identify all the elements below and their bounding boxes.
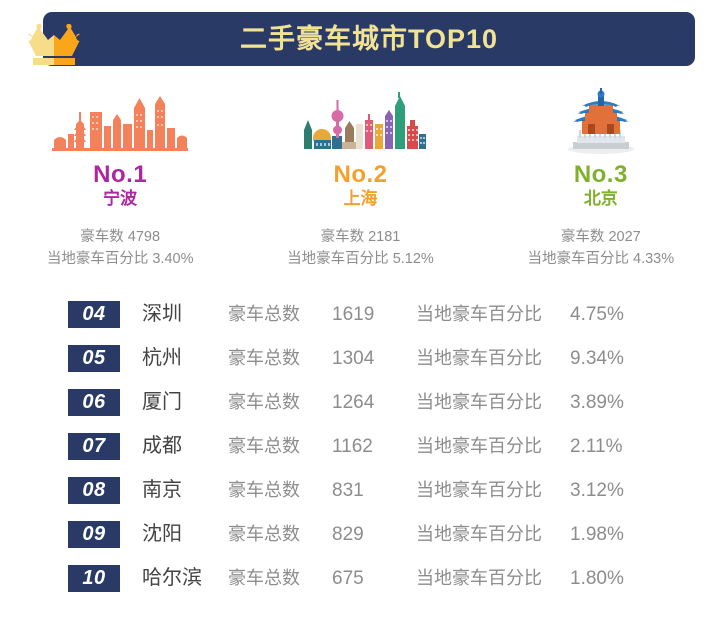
row-pct-value: 3.89%	[570, 393, 624, 412]
row-count-label: 豪车总数	[228, 393, 320, 411]
podium-rank-label: No.1	[93, 162, 147, 187]
row-city-name: 厦门	[142, 392, 228, 412]
row-city-name: 沈阳	[142, 524, 228, 544]
row-count-value: 831	[332, 481, 416, 500]
row-pct-value: 3.12%	[570, 481, 624, 500]
temple-of-heaven-icon	[551, 84, 651, 156]
podium-count-label: 豪车数	[561, 229, 605, 245]
podium-stats: 豪车数 2181 当地豪车百分比 5.12%	[287, 226, 434, 271]
row-pct-value: 2.11%	[570, 437, 622, 456]
row-pct-label: 当地豪车百分比	[416, 481, 556, 499]
table-row[interactable]: 08 南京 豪车总数 831 当地豪车百分比 3.12%	[0, 468, 721, 512]
row-pct-label: 当地豪车百分比	[416, 349, 556, 367]
row-city-name: 深圳	[142, 304, 228, 324]
podium-count-label: 豪车数	[321, 229, 365, 245]
podium-section: No.1 宁波 豪车数 4798 当地豪车百分比 3.40%	[0, 84, 721, 280]
row-pct-value: 4.75%	[570, 305, 624, 324]
row-pct-value: 1.98%	[570, 525, 624, 544]
row-city-name: 成都	[142, 436, 228, 456]
podium-city-name: 宁波	[103, 189, 137, 209]
table-row[interactable]: 05 杭州 豪车总数 1304 当地豪车百分比 9.34%	[0, 336, 721, 380]
podium-stats: 豪车数 2027 当地豪车百分比 4.33%	[527, 226, 674, 271]
header-banner: 二手豪车城市TOP10	[43, 12, 695, 66]
podium-count-line: 豪车数 2181	[287, 226, 434, 248]
table-row[interactable]: 10 哈尔滨 豪车总数 675 当地豪车百分比 1.80%	[0, 556, 721, 600]
row-count-label: 豪车总数	[228, 305, 320, 323]
podium-city-name: 北京	[584, 189, 618, 209]
rank-badge: 07	[68, 433, 120, 460]
row-pct-label: 当地豪车百分比	[416, 437, 556, 455]
table-row[interactable]: 09 沈阳 豪车总数 829 当地豪车百分比 1.98%	[0, 512, 721, 556]
row-city-name: 杭州	[142, 348, 228, 368]
ningbo-skyline-icon	[50, 84, 190, 156]
row-pct-label: 当地豪车百分比	[416, 393, 556, 411]
rank-badge: 06	[68, 389, 120, 416]
podium-pct-label: 当地豪车百分比	[287, 251, 389, 267]
podium-count-value: 2027	[608, 229, 640, 245]
podium-pct-line: 当地豪车百分比 4.33%	[527, 248, 674, 270]
table-row[interactable]: 06 厦门 豪车总数 1264 当地豪车百分比 3.89%	[0, 380, 721, 424]
row-pct-value: 9.34%	[570, 349, 624, 368]
rank-list: 04 深圳 豪车总数 1619 当地豪车百分比 4.75% 05 杭州 豪车总数…	[0, 292, 721, 600]
podium-pct-label: 当地豪车百分比	[47, 251, 149, 267]
podium-item-3[interactable]: No.3 北京 豪车数 2027 当地豪车百分比 4.33%	[481, 84, 721, 280]
row-pct-label: 当地豪车百分比	[416, 305, 556, 323]
podium-count-label: 豪车数	[80, 229, 124, 245]
rank-badge: 05	[68, 345, 120, 372]
row-count-label: 豪车总数	[228, 481, 320, 499]
header: 二手豪车城市TOP10	[0, 0, 721, 80]
podium-count-line: 豪车数 4798	[47, 226, 194, 248]
row-count-label: 豪车总数	[228, 525, 320, 543]
rank-badge: 08	[68, 477, 120, 504]
row-pct-label: 当地豪车百分比	[416, 569, 556, 587]
podium-count-line: 豪车数 2027	[527, 226, 674, 248]
row-pct-label: 当地豪车百分比	[416, 525, 556, 543]
row-count-label: 豪车总数	[228, 349, 320, 367]
podium-city-name: 上海	[343, 189, 377, 209]
row-count-value: 1264	[332, 393, 416, 412]
podium-pct-value: 5.12%	[393, 251, 434, 267]
row-count-value: 1162	[332, 437, 416, 456]
podium-rank-label: No.3	[574, 162, 628, 187]
podium-pct-label: 当地豪车百分比	[527, 251, 629, 267]
podium-pct-line: 当地豪车百分比 5.12%	[287, 248, 434, 270]
podium-item-1[interactable]: No.1 宁波 豪车数 4798 当地豪车百分比 3.40%	[0, 84, 240, 280]
podium-stats: 豪车数 4798 当地豪车百分比 3.40%	[47, 226, 194, 271]
podium-item-2[interactable]: No.2 上海 豪车数 2181 当地豪车百分比 5.12%	[240, 84, 480, 280]
rank-badge: 09	[68, 521, 120, 548]
table-row[interactable]: 07 成都 豪车总数 1162 当地豪车百分比 2.11%	[0, 424, 721, 468]
crown-icon	[26, 24, 82, 66]
row-count-value: 675	[332, 569, 416, 588]
table-row[interactable]: 04 深圳 豪车总数 1619 当地豪车百分比 4.75%	[0, 292, 721, 336]
row-count-value: 829	[332, 525, 416, 544]
shanghai-skyline-icon	[290, 84, 430, 156]
row-city-name: 南京	[142, 480, 228, 500]
podium-pct-value: 4.33%	[633, 251, 674, 267]
row-count-value: 1619	[332, 305, 416, 324]
podium-rank-label: No.2	[333, 162, 387, 187]
row-count-label: 豪车总数	[228, 437, 320, 455]
page-title: 二手豪车城市TOP10	[240, 26, 498, 53]
row-city-name: 哈尔滨	[142, 568, 228, 588]
rank-badge: 10	[68, 565, 120, 592]
podium-pct-line: 当地豪车百分比 3.40%	[47, 248, 194, 270]
row-count-value: 1304	[332, 349, 416, 368]
row-pct-value: 1.80%	[570, 569, 624, 588]
row-count-label: 豪车总数	[228, 569, 320, 587]
rank-badge: 04	[68, 301, 120, 328]
podium-pct-value: 3.40%	[152, 251, 193, 267]
podium-count-value: 2181	[368, 229, 400, 245]
podium-count-value: 4798	[128, 229, 160, 245]
